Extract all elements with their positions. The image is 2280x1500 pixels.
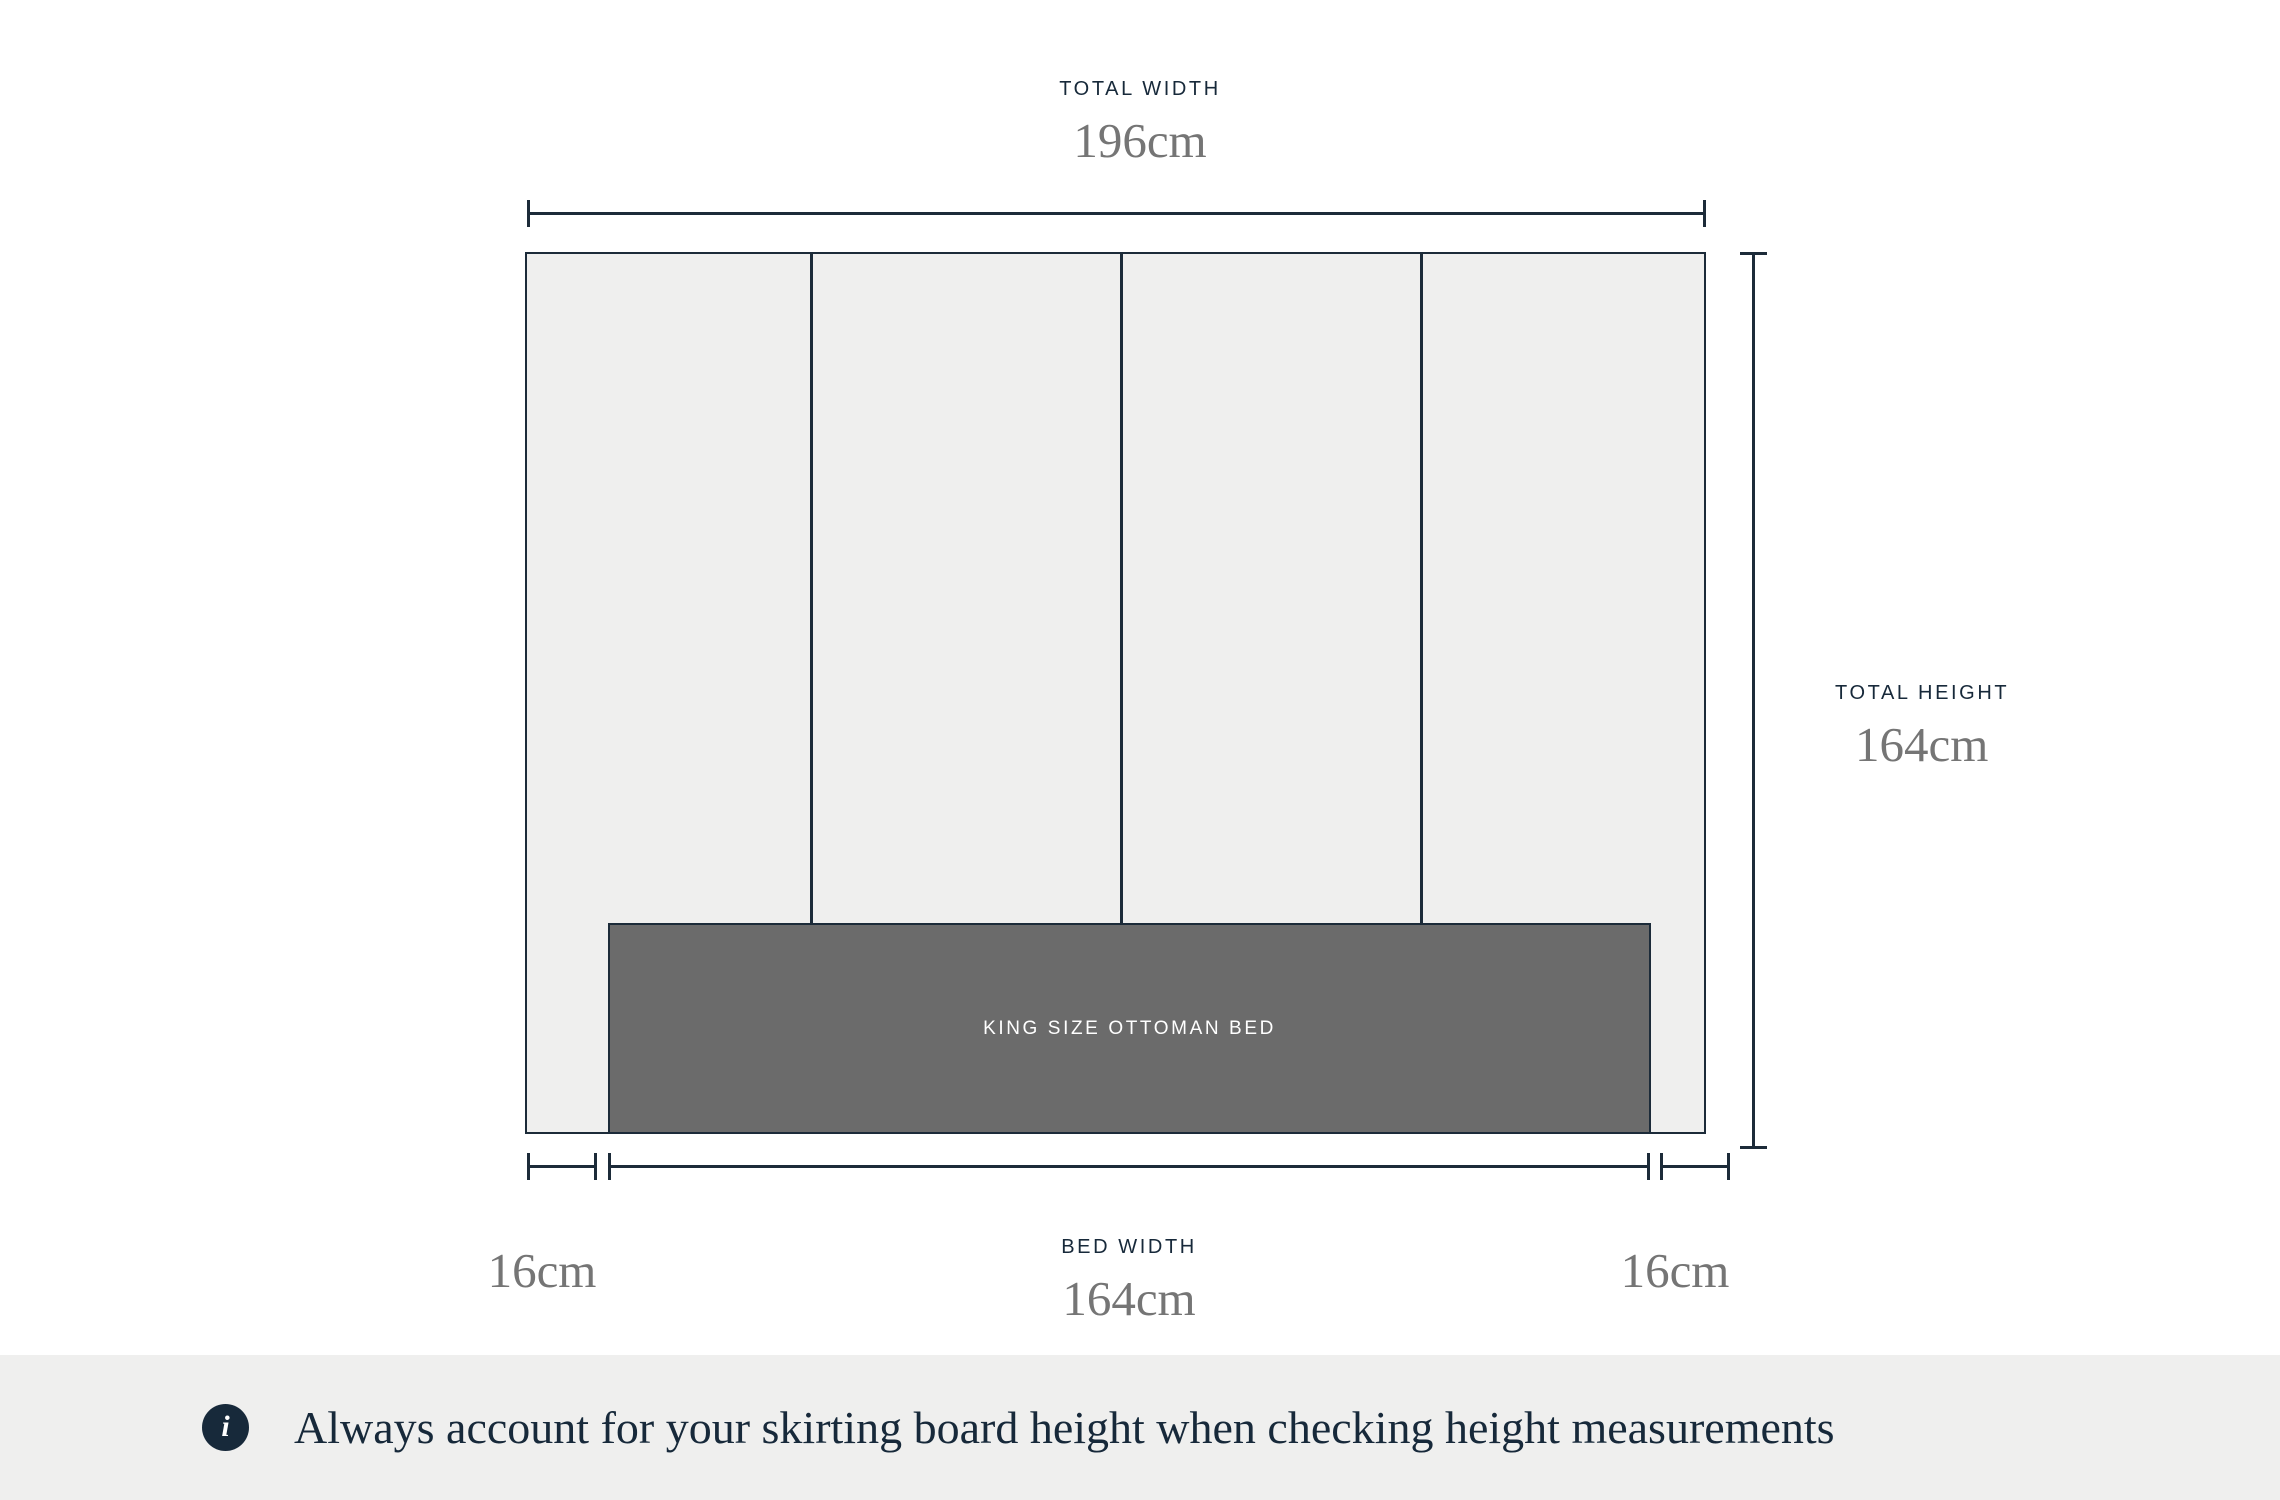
headboard-panel-divider-1 xyxy=(810,252,813,925)
right-gap-tick-left xyxy=(1660,1153,1663,1180)
bed-width-label: BED WIDTH xyxy=(929,1236,1329,1259)
ottoman-bed-label: KING SIZE OTTOMAN BED xyxy=(983,1018,1276,1040)
ottoman-bed-block: KING SIZE OTTOMAN BED xyxy=(608,923,1651,1134)
bed-width-tick-right xyxy=(1647,1153,1650,1180)
info-icon-glyph: i xyxy=(221,1412,229,1442)
bed-width-dimension-line xyxy=(608,1165,1650,1168)
total-width-tick-left xyxy=(527,200,530,227)
headboard-panel-divider-3 xyxy=(1420,252,1423,925)
right-gap-value: 16cm xyxy=(1585,1242,1765,1299)
info-banner-message: Always account for your skirting board h… xyxy=(294,1401,1835,1454)
left-gap-value: 16cm xyxy=(452,1242,632,1299)
left-gap-tick-left xyxy=(527,1153,530,1180)
info-icon: i xyxy=(202,1404,249,1451)
dimension-diagram: TOTAL WIDTH 196cm KING SIZE OTTOMAN BED … xyxy=(0,0,2280,1500)
info-banner: i Always account for your skirting board… xyxy=(0,1355,2280,1500)
total-height-label: TOTAL HEIGHT xyxy=(1835,682,2009,705)
total-width-value: 196cm xyxy=(0,112,2280,169)
bed-width-value: 164cm xyxy=(929,1270,1329,1327)
total-width-dimension-line xyxy=(527,212,1706,215)
total-width-label: TOTAL WIDTH xyxy=(0,78,2280,101)
headboard-panel-divider-2 xyxy=(1120,252,1123,925)
left-gap-tick-right xyxy=(594,1153,597,1180)
right-gap-dimension-line xyxy=(1660,1165,1730,1168)
total-width-tick-right xyxy=(1703,200,1706,227)
right-gap-tick-right xyxy=(1727,1153,1730,1180)
bed-width-tick-left xyxy=(608,1153,611,1180)
total-height-value: 164cm xyxy=(1855,716,1988,773)
total-height-dimension-line xyxy=(1752,252,1755,1149)
left-gap-dimension-line xyxy=(527,1165,597,1168)
total-height-tick-bottom xyxy=(1740,1146,1767,1149)
total-height-tick-top xyxy=(1740,252,1767,255)
